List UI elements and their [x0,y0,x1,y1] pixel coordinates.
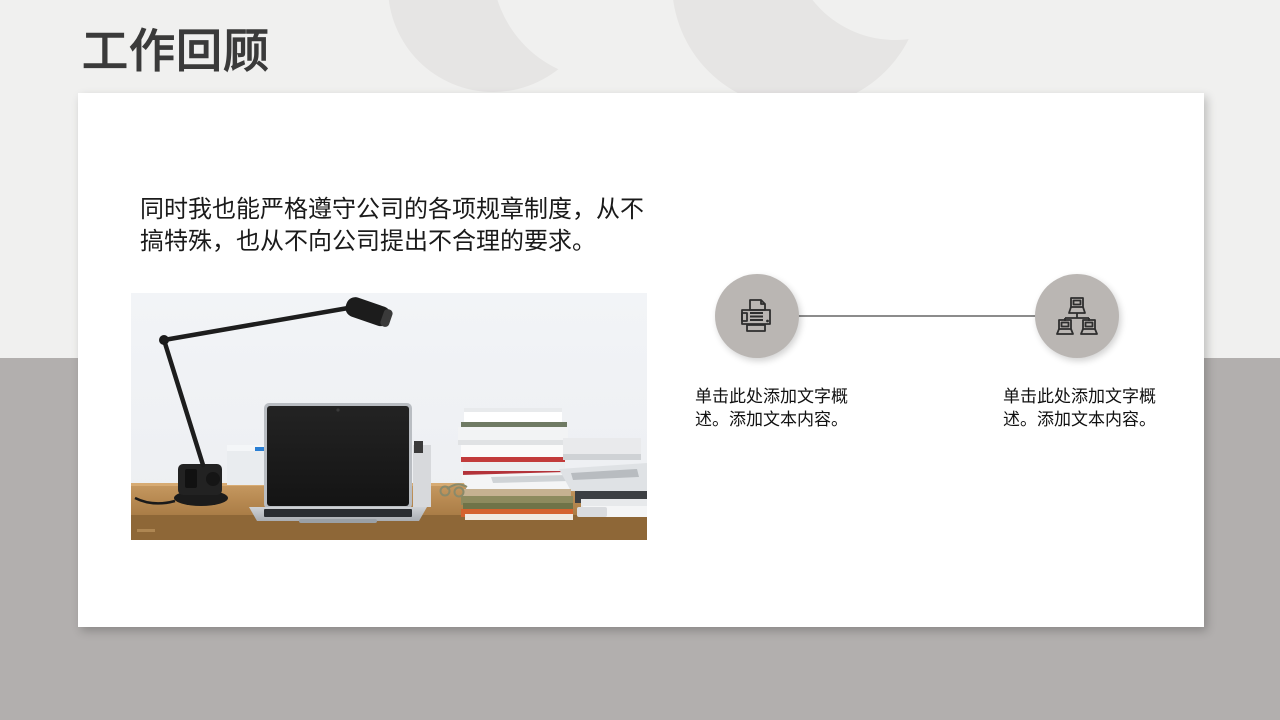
printer-icon [737,297,777,335]
connector-line [790,315,1045,317]
icon-circle-printer[interactable] [715,274,799,358]
slide-canvas: 工作回顾 同时我也能严格遵守公司的各项规章制度，从不搞特殊，也从不向公司提出不合… [0,0,1280,720]
page-title: 工作回顾 [82,27,270,75]
desk-photo [131,293,647,540]
body-paragraph: 同时我也能严格遵守公司的各项规章制度，从不搞特殊，也从不向公司提出不合理的要求。 [140,194,645,257]
icon-circle-network[interactable] [1035,274,1119,358]
network-computers-icon [1056,296,1098,336]
caption-item-1: 单击此处添加文字概述。添加文本内容。 [695,386,855,433]
caption-item-2: 单击此处添加文字概述。添加文本内容。 [1003,386,1163,433]
